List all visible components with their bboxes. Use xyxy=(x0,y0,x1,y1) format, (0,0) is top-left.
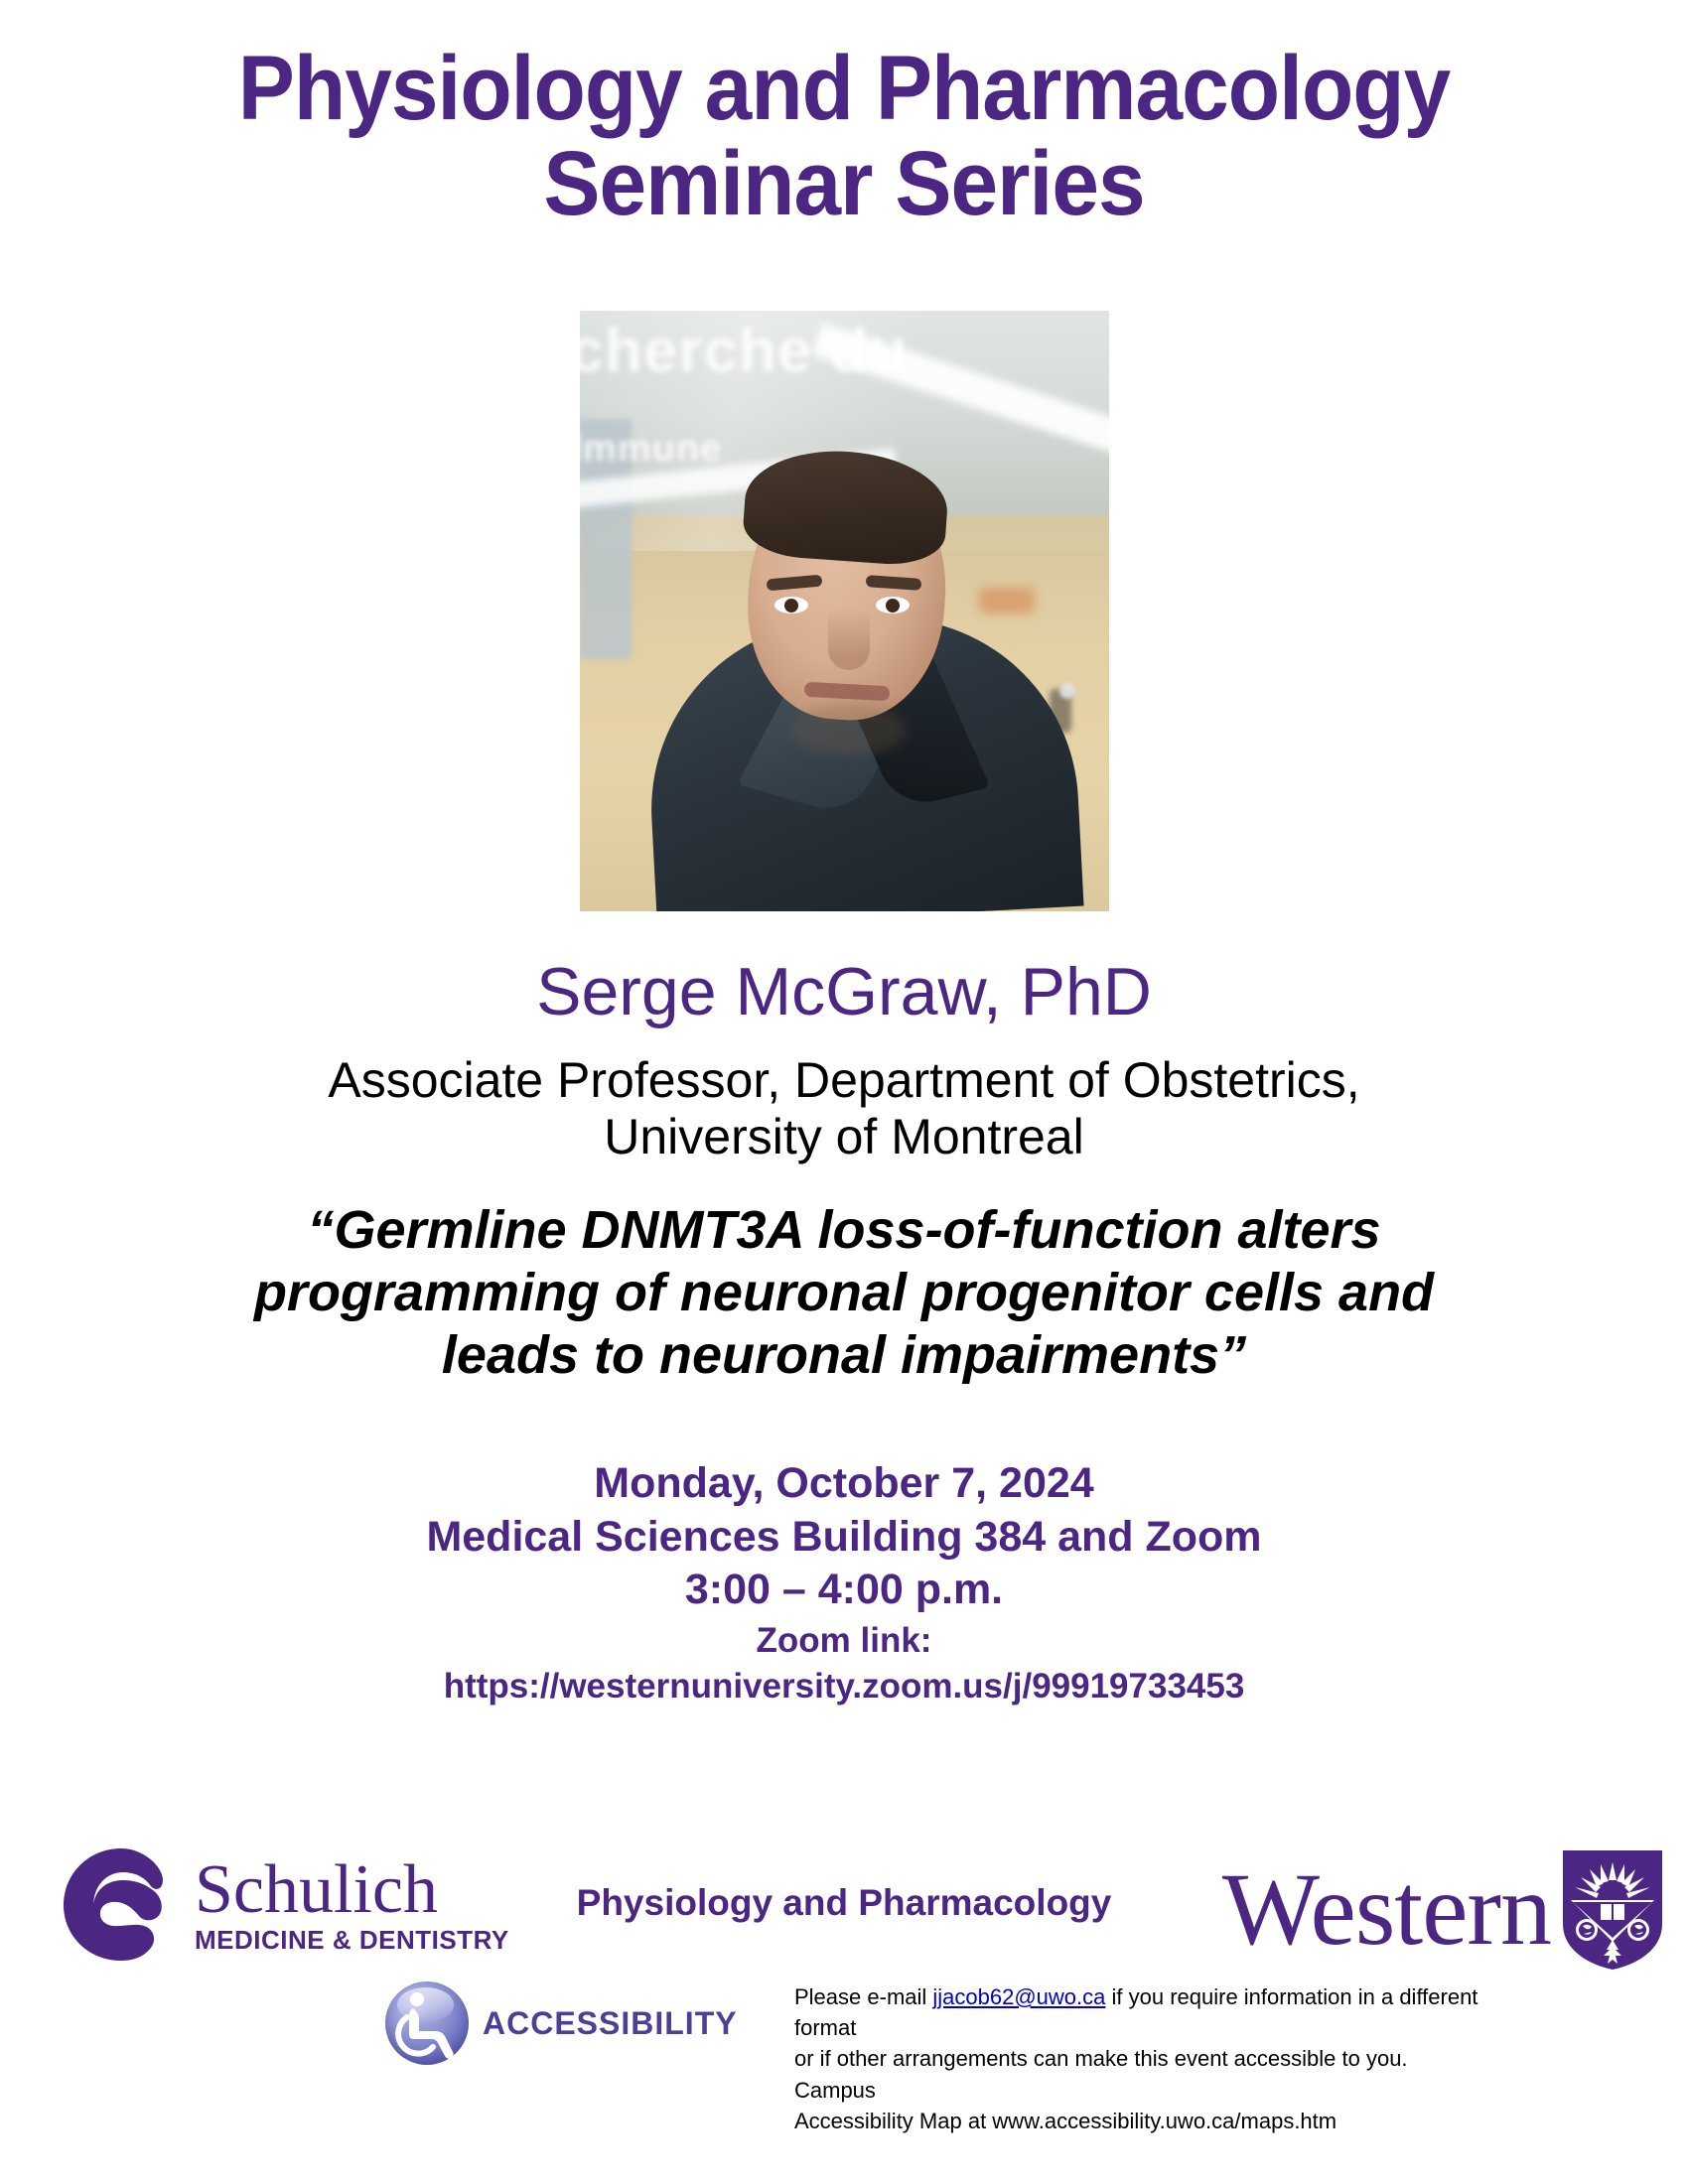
footer-accessibility-row: ACCESSIBILITY Please e-mail jjacob62@uwo… xyxy=(0,1976,1688,2124)
talk-title: “Germline DNMT3A loss-of-function alters… xyxy=(0,1199,1688,1386)
seminar-poster: Physiology and Pharmacology Seminar Seri… xyxy=(0,0,1688,2184)
event-details: Monday, October 7, 2024 Medical Sciences… xyxy=(0,1457,1688,1708)
speaker-figure xyxy=(580,311,1109,911)
speaker-affiliation-line-2: University of Montreal xyxy=(0,1109,1688,1165)
event-time: 3:00 – 4:00 p.m. xyxy=(0,1564,1688,1616)
accessibility-fineprint: Please e-mail jjacob62@uwo.ca if you req… xyxy=(794,1981,1489,2136)
talk-title-line-3: leads to neuronal impairments” xyxy=(99,1324,1589,1387)
speaker-nose xyxy=(828,609,870,670)
event-location: Medical Sciences Building 384 and Zoom xyxy=(0,1511,1688,1564)
fineprint-line-1-pre: Please e-mail xyxy=(794,1984,932,2009)
event-date: Monday, October 7, 2024 xyxy=(0,1457,1688,1510)
speaker-affiliation-line-1: Associate Professor, Department of Obste… xyxy=(0,1052,1688,1109)
accessibility-label: ACCESSIBILITY xyxy=(483,2005,738,2042)
footer-logo-row: Schulich MEDICINE & DENTISTRY Physiology… xyxy=(0,1837,1688,1985)
speaker-affiliation: Associate Professor, Department of Obste… xyxy=(0,1052,1688,1165)
footer: Schulich MEDICINE & DENTISTRY Physiology… xyxy=(0,1827,1688,2184)
accessibility-badge: ACCESSIBILITY xyxy=(385,1981,738,2065)
talk-title-line-1: “Germline DNMT3A loss-of-function alters xyxy=(99,1199,1589,1262)
page-title-line-1: Physiology and Pharmacology xyxy=(60,42,1629,137)
western-wordmark: Western xyxy=(1222,1858,1551,1962)
speaker-chin-shadow xyxy=(790,704,906,755)
talk-title-line-2: programming of neuronal progenitor cells… xyxy=(99,1262,1589,1324)
zoom-link-label: Zoom link: xyxy=(0,1618,1688,1664)
speaker-name: Serge McGraw, PhD xyxy=(0,953,1688,1030)
page-title-line-2: Seminar Series xyxy=(60,137,1629,232)
schulich-subtitle: MEDICINE & DENTISTRY xyxy=(195,1927,509,1953)
fineprint-line-2: or if other arrangements can make this e… xyxy=(794,2043,1489,2105)
speaker-hair xyxy=(741,445,950,568)
western-logo: Western xyxy=(1222,1846,1666,1974)
speaker-pupil-right xyxy=(886,599,900,613)
accessibility-icon xyxy=(385,1981,469,2065)
fineprint-line-3: Accessibility Map at www.accessibility.u… xyxy=(794,2106,1489,2136)
speaker-pupil-left xyxy=(784,599,798,613)
western-crest-icon xyxy=(1559,1846,1666,1974)
speaker-photo-container: cherche du Immune xyxy=(0,311,1688,911)
zoom-link-url[interactable]: https://westernuniversity.zoom.us/j/9991… xyxy=(0,1664,1688,1709)
speaker-photo: cherche du Immune xyxy=(580,311,1109,911)
contact-email-link[interactable]: jjacob62@uwo.ca xyxy=(932,1984,1105,2009)
page-title: Physiology and Pharmacology Seminar Seri… xyxy=(0,0,1688,231)
fineprint-line-1: Please e-mail jjacob62@uwo.ca if you req… xyxy=(794,1981,1489,2043)
wheelchair-icon xyxy=(385,1981,469,2065)
